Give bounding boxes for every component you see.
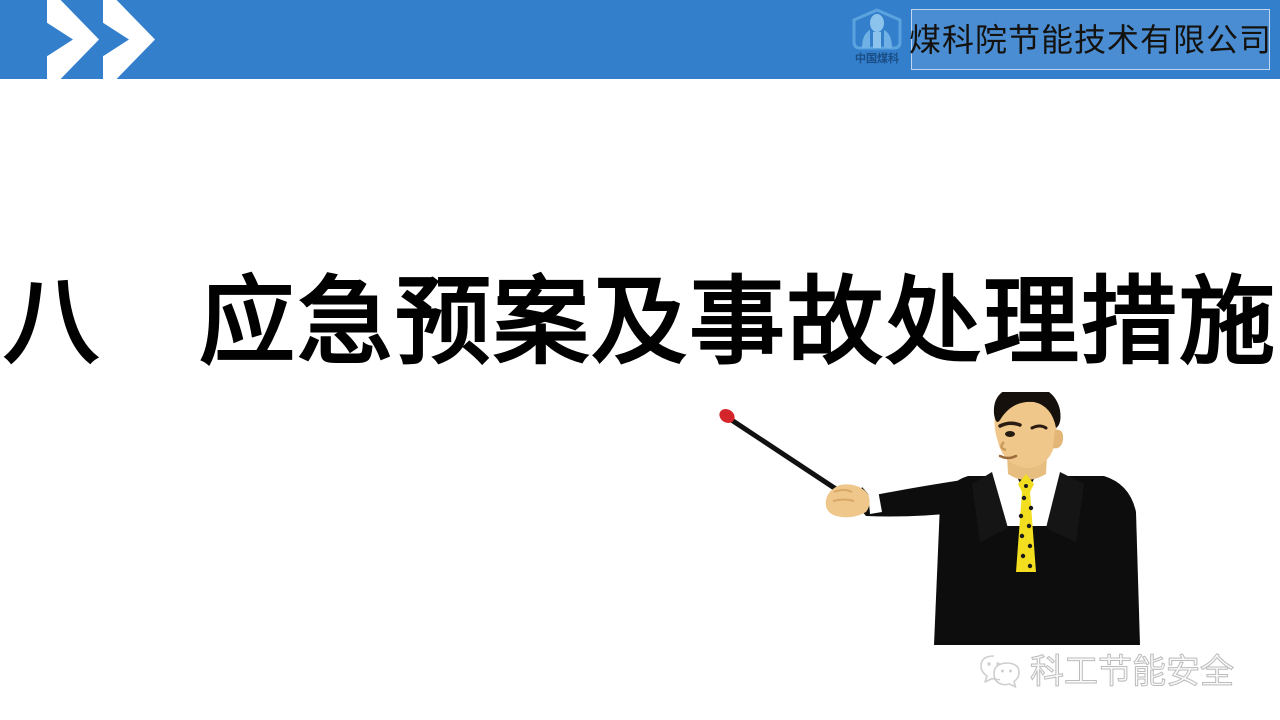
chevron-right-icon-secondary xyxy=(103,0,199,79)
presentation-slide: 中国煤科 煤科院节能技术有限公司 八 应急预案及事故处理措施 xyxy=(0,0,1280,720)
wechat-icon xyxy=(978,653,1022,691)
title-container: 八 应急预案及事故处理措施 xyxy=(0,272,1280,373)
header-band: 中国煤科 煤科院节能技术有限公司 xyxy=(0,0,1280,79)
wechat-watermark: 科工节能安全 xyxy=(978,648,1234,696)
company-name-box: 煤科院节能技术有限公司 xyxy=(911,9,1270,70)
logo-caption: 中国煤科 xyxy=(842,50,912,66)
company-logo: 中国煤科 xyxy=(842,6,912,74)
presenter-photo xyxy=(700,392,1180,645)
page-title: 八 应急预案及事故处理措施 xyxy=(0,272,1280,373)
company-name-text: 煤科院节能技术有限公司 xyxy=(909,24,1272,56)
watermark-text: 科工节能安全 xyxy=(1030,655,1234,689)
coal-science-emblem-icon xyxy=(848,8,906,50)
pointer-stick xyxy=(717,406,848,497)
